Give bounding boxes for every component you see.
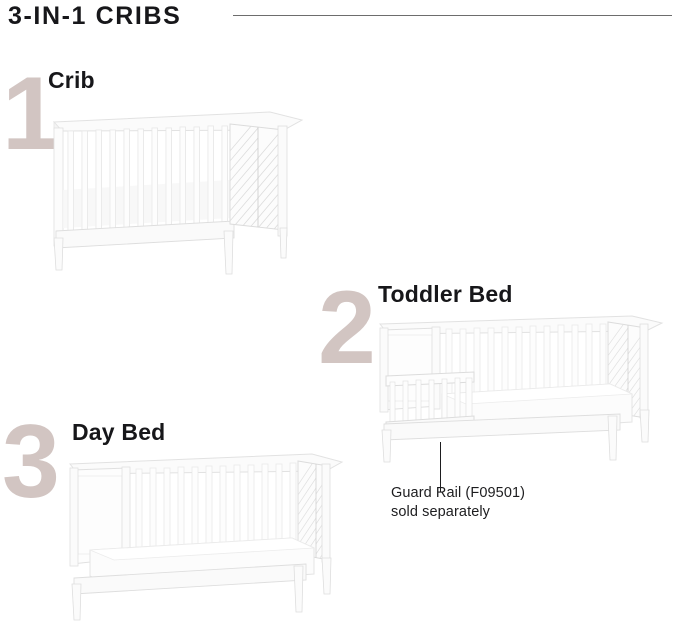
- crib-illustration: [34, 98, 314, 288]
- section-toddler-bed: 2 Toddler Bed: [310, 268, 679, 528]
- step-label-toddler-bed: Toddler Bed: [378, 280, 513, 308]
- toddler-bed-illustration: [370, 310, 675, 465]
- header-divider-line: [233, 15, 672, 16]
- step-label-crib: Crib: [48, 66, 95, 94]
- guard-rail-callout-line1: Guard Rail (F09501): [391, 484, 525, 503]
- page-title: 3-IN-1 CRIBS: [8, 1, 181, 31]
- step-number-3: 3: [2, 410, 58, 514]
- section-crib: 1 Crib: [0, 58, 330, 288]
- step-number-2: 2: [318, 276, 374, 380]
- guard-rail-callout: Guard Rail (F09501) sold separately: [391, 484, 525, 522]
- day-bed-illustration: [62, 446, 352, 626]
- page-header: 3-IN-1 CRIBS: [0, 0, 679, 40]
- section-day-bed: 3 Day Bed: [0, 404, 360, 640]
- guard-rail-callout-line2: sold separately: [391, 503, 525, 522]
- step-label-day-bed: Day Bed: [72, 418, 165, 446]
